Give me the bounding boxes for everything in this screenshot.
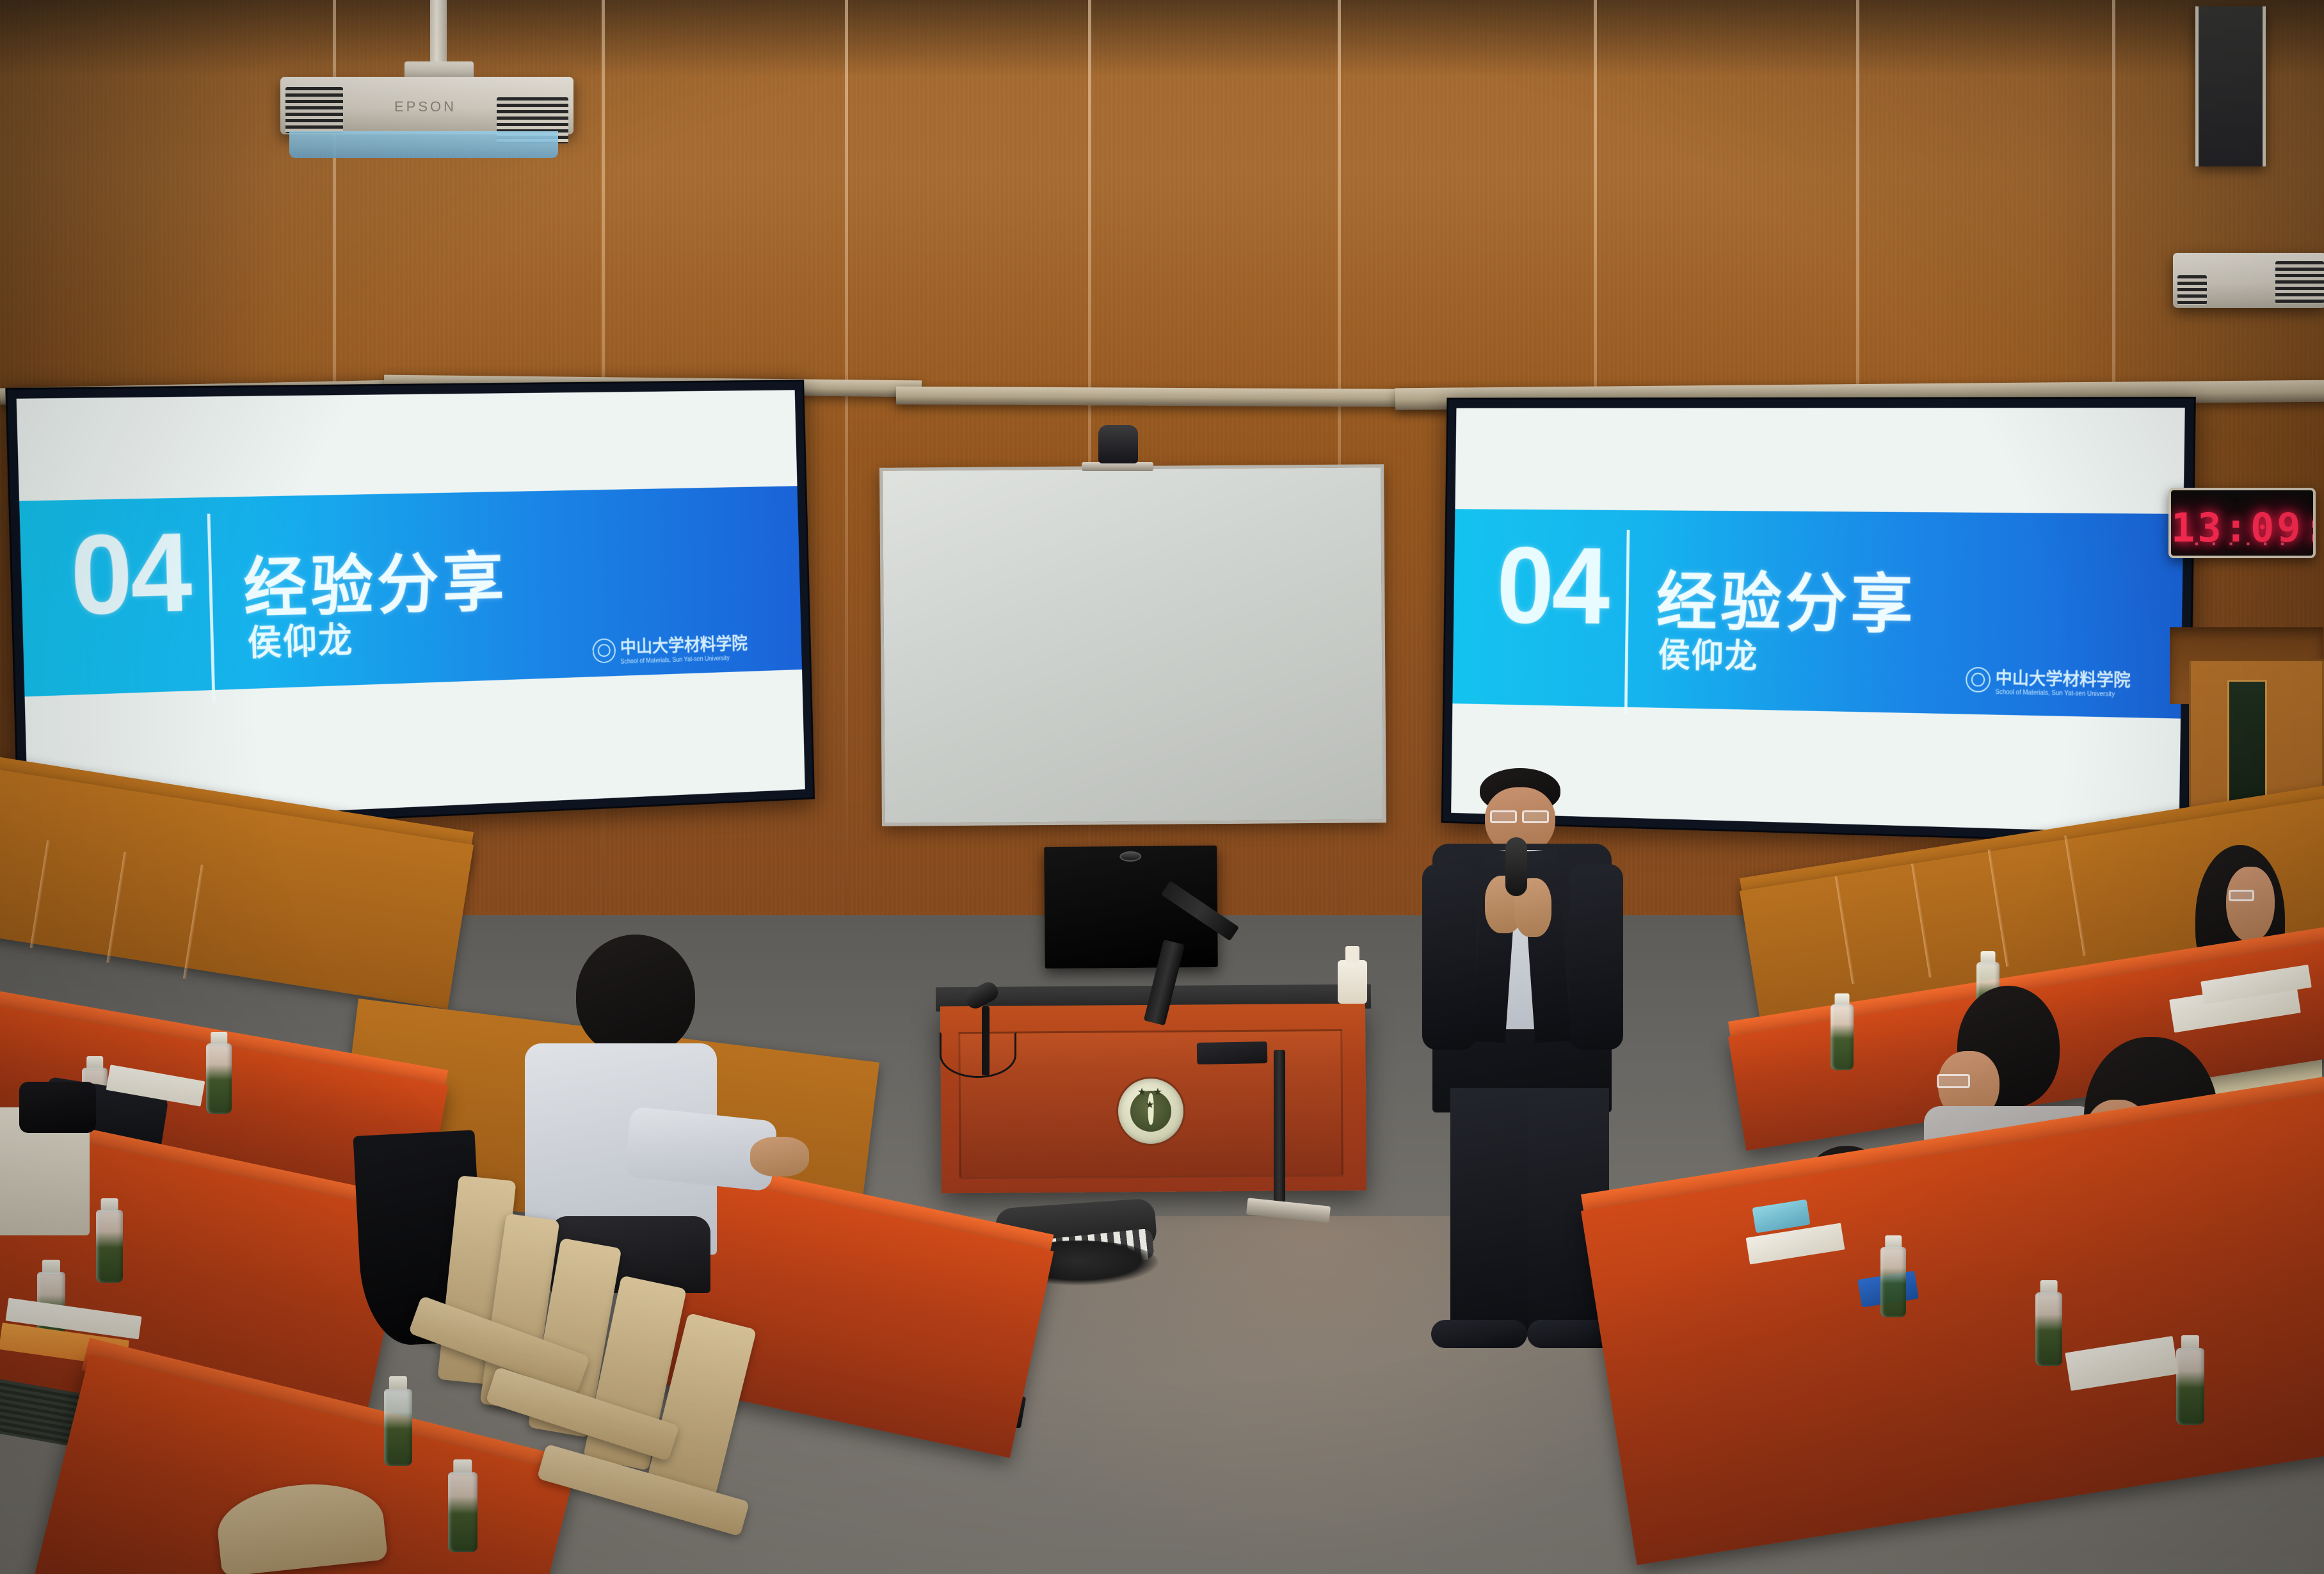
audience-member-far-left [0,1082,109,1261]
presenter-arm-left [1422,864,1476,1050]
bottle-body [1831,1004,1854,1070]
wall-speaker [2195,6,2266,166]
projector-brand-label: EPSON [394,99,456,115]
seal-stars: ★ ★ ★ [1130,1086,1171,1111]
water-bottle [1880,1235,1906,1317]
seal-inner-motif: ★ ★ ★ [1130,1091,1171,1131]
microphone-cable [940,1032,1016,1078]
bottle-body [448,1472,477,1552]
projector-vent-right-unit-b [2275,261,2324,303]
bottle-body [206,1043,232,1114]
right-slide-subtitle: 侯仰龙 [1658,627,1759,678]
presenter-glasses-left [1490,810,1517,823]
audience-shoulder [19,1082,96,1133]
digital-wall-clock: 13:09:08 ▪ ▪ ▪ ▪ ▪ ▪ [2168,488,2316,558]
ptz-camera [1098,425,1138,463]
projector-vent-left [285,87,343,133]
water-bottle [448,1459,477,1552]
water-bottle [206,1032,232,1114]
bottle-body [2035,1292,2062,1366]
audience-glasses [2229,890,2254,901]
audience-hair [576,935,695,1056]
left-slide-logo: 中山大学材料学院 School of Materials, Sun Yat-se… [592,630,748,666]
water-bottle [384,1376,412,1466]
left-slide-section-number: 04 [69,520,191,627]
audience-glasses [1937,1074,1970,1088]
projector-lens-glow [289,131,558,158]
right-slide-logo-cn: 中山大学材料学院 [1995,664,2131,691]
podium-support-leg [1274,1050,1285,1210]
audience-face [2226,867,2275,942]
right-slide-section-number: 04 [1496,535,1608,637]
monitor-brand-icon [1119,851,1141,862]
bottle-body [384,1389,412,1466]
presenter-trouser-left [1450,1088,1531,1338]
water-bottle [1831,993,1854,1070]
left-projection-screen: 04 经验分享 侯仰龙 中山大学材料学院 School of Materials… [5,380,815,835]
lecture-hall-photo: EPSON 04 经验分享 侯仰龙 中山大学材料学院 School of Mat… [0,0,2324,1574]
water-bottle [2035,1280,2062,1366]
bottle-body [2176,1348,2204,1425]
projector-mount-pole [430,0,447,64]
handheld-microphone[interactable] [1505,837,1527,896]
sanitizer-pump [1345,946,1359,963]
university-logo-icon [592,638,616,663]
presenter-shoe-left [1431,1320,1527,1348]
left-slide: 04 经验分享 侯仰龙 中山大学材料学院 School of Materials… [17,390,805,824]
right-slide-logo: 中山大学材料学院 School of Materials, Sun Yat-se… [1966,664,2131,698]
projector-vent-right-unit-a [2177,275,2207,305]
clock-indicator-row: ▪ ▪ ▪ ▪ ▪ ▪ [2171,538,2313,550]
presenter-arm-right [1569,864,1623,1050]
university-logo-icon [1966,667,1991,693]
podium-university-seal: ★ ★ ★ [1116,1077,1185,1146]
ceiling-shadow [0,0,2324,77]
audience-hand [750,1137,809,1176]
wall-trim-beam [896,387,1459,408]
center-whiteboard [879,464,1386,826]
left-slide-subtitle: 侯仰龙 [246,612,354,666]
podium-remote-device[interactable] [1197,1041,1268,1064]
bottle-body [1880,1247,1906,1317]
presenter-glasses-right [1522,810,1549,823]
wall-seam [845,0,848,947]
hand-sanitizer-bottle [1338,960,1367,1004]
camera-mount-plate [1082,462,1153,471]
water-bottle [2176,1335,2204,1425]
